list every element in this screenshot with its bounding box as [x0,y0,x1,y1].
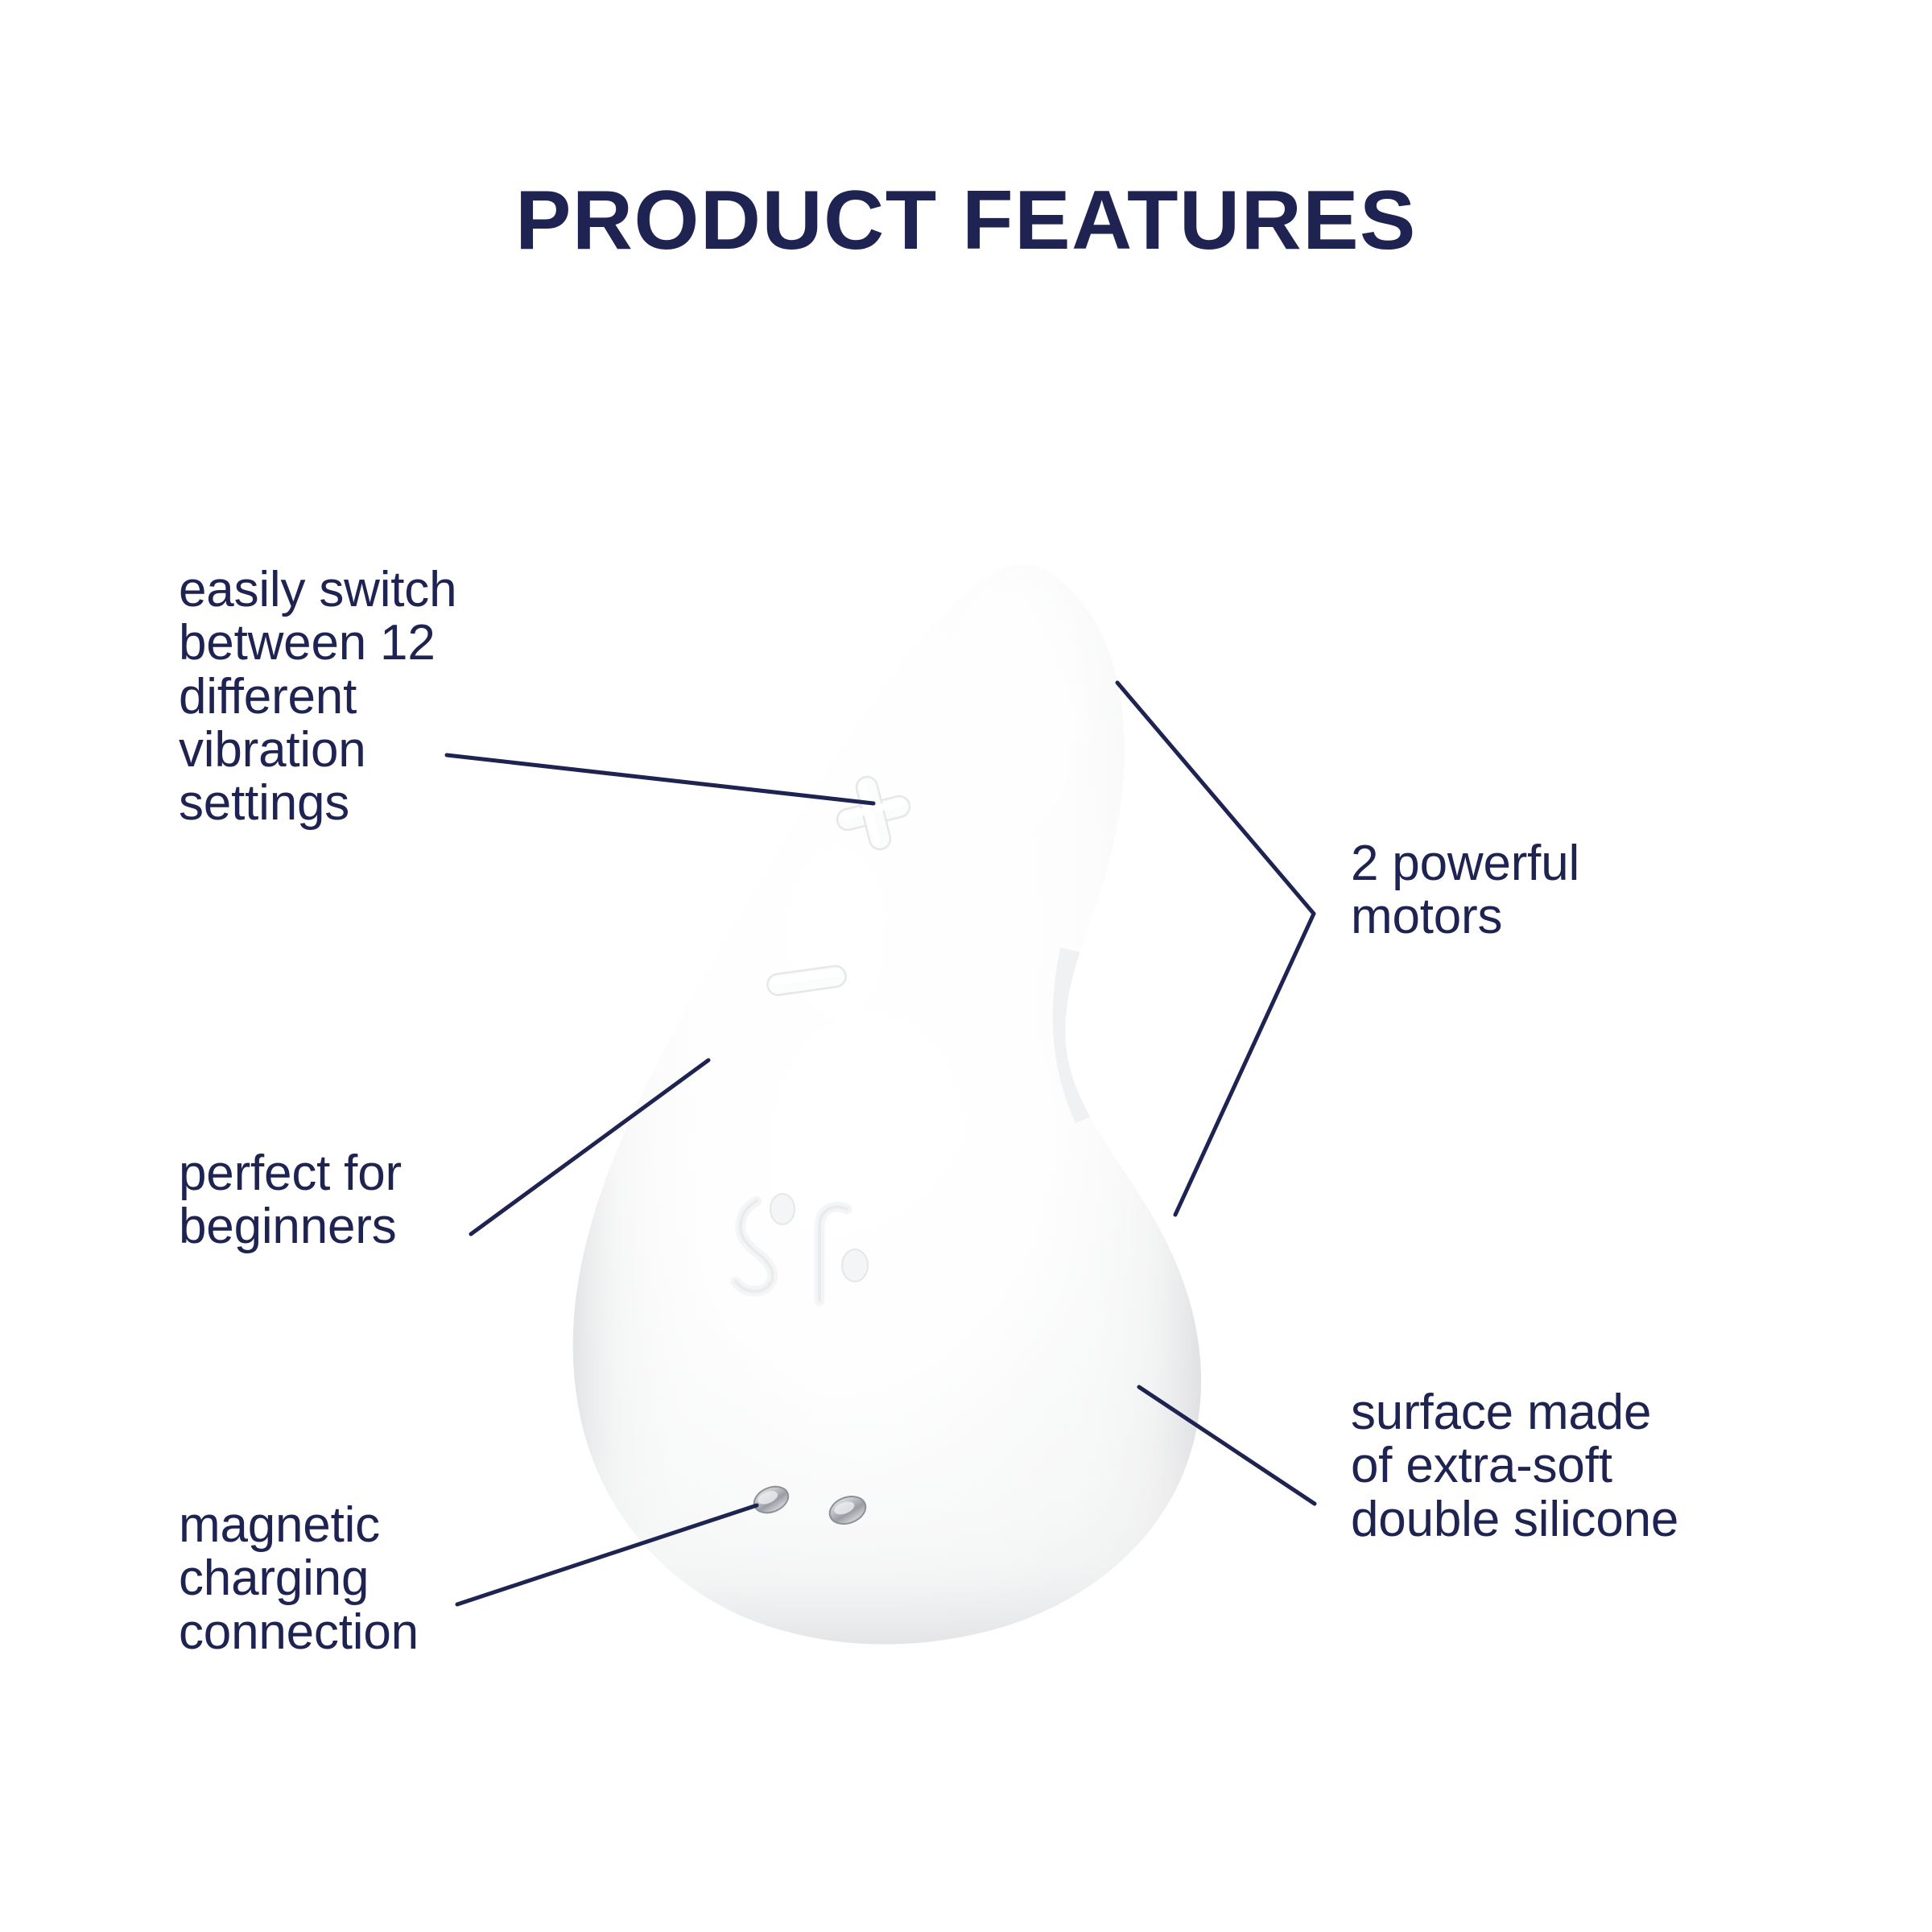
product-body-group [555,535,1216,1674]
callout-motors: 2 powerful motors [1351,837,1802,944]
callout-silicone: surface made of extra-soft double silico… [1351,1386,1850,1546]
callout-magnetic: magnetic charging connection [179,1499,597,1659]
callout-settings: easily switch between 12 different vibra… [179,563,597,831]
callout-beginners: perfect for beginners [179,1147,565,1254]
product-features-infographic: PRODUCT FEATURES [0,0,1932,1932]
leader-line-motors-lower [1175,914,1314,1215]
leader-line-motors-upper [1117,683,1314,914]
